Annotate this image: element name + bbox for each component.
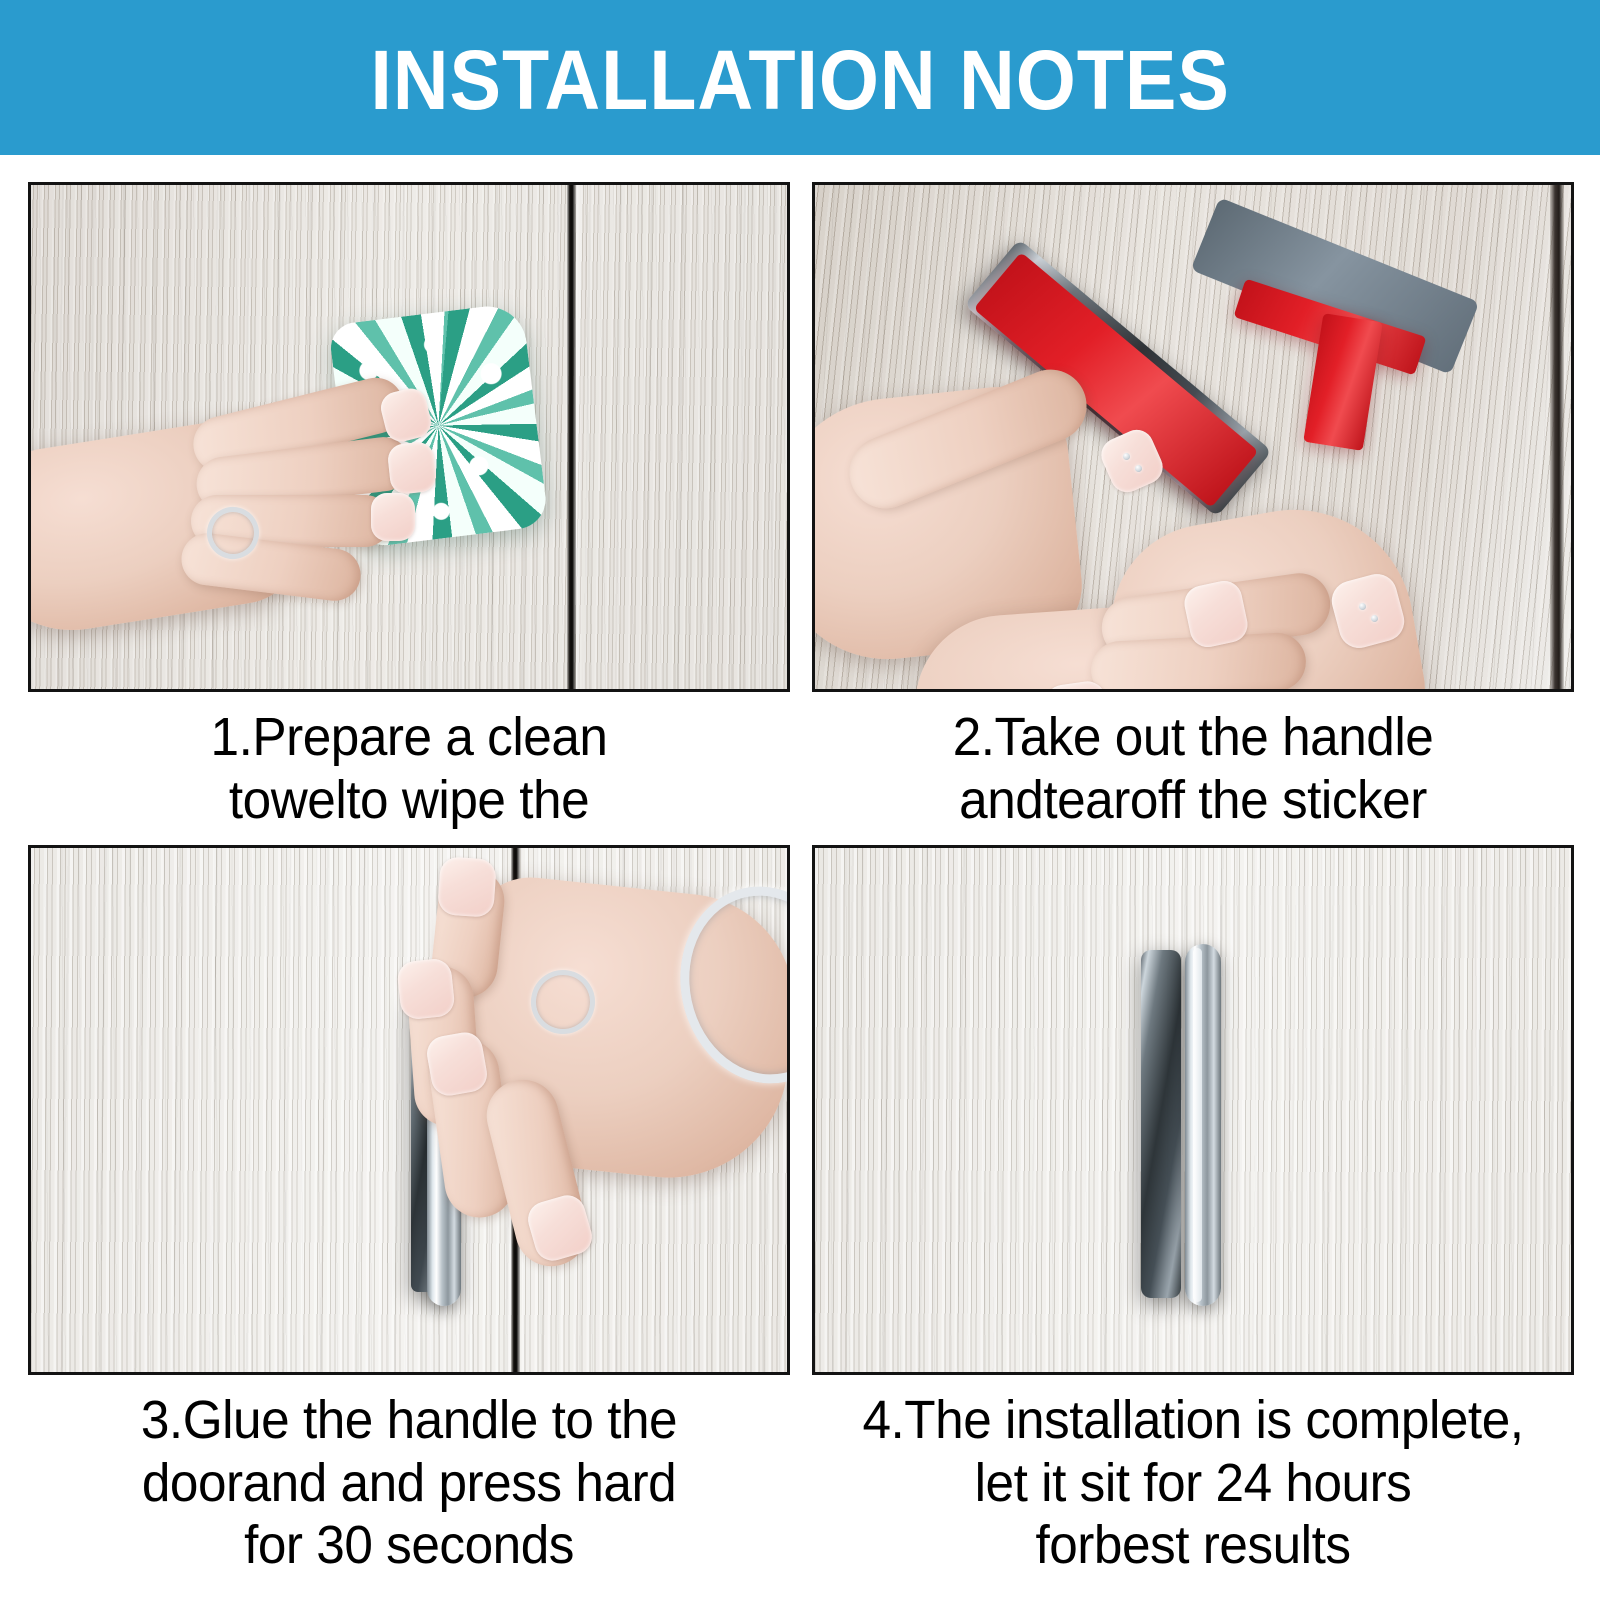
fingernail [371, 493, 415, 541]
step-4: 4.The installation is complete, let it s… [812, 845, 1574, 1577]
step-2-photo [812, 182, 1574, 692]
nail-gem [1359, 603, 1366, 610]
caption-line: 1.Prepare a clean [47, 706, 771, 769]
fingernail [396, 957, 456, 1020]
page-title: INSTALLATION NOTES [370, 38, 1229, 122]
caption-line: let it sit for 24 hours [831, 1452, 1555, 1515]
caption-line: for 30 seconds [47, 1514, 771, 1577]
step-1-photo [28, 182, 790, 692]
nail-gem [1123, 453, 1130, 460]
handle-bar [1185, 944, 1221, 1306]
nail-gem [1371, 615, 1378, 622]
steps-grid: 1.Prepare a clean towelto wipe the [0, 155, 1600, 1600]
fingernail [437, 856, 497, 918]
step-3-photo [28, 845, 790, 1375]
step-2: 2.Take out the handle andtearoff the sti… [812, 182, 1574, 831]
step-2-caption: 2.Take out the handle andtearoff the sti… [812, 706, 1574, 831]
handle-bar-highlight [1193, 948, 1202, 1302]
handle-backing-plate [1141, 950, 1181, 1298]
step-3-caption: 3.Glue the handle to the doorand and pre… [28, 1389, 790, 1577]
step-4-photo [812, 845, 1574, 1375]
caption-line: 4.The installation is complete, [831, 1389, 1555, 1452]
caption-line: 3.Glue the handle to the [47, 1389, 771, 1452]
door-edge-highlight [576, 182, 582, 692]
caption-line: 2.Take out the handle [831, 706, 1555, 769]
step-3: 3.Glue the handle to the doorand and pre… [28, 845, 790, 1577]
nail-gem [1135, 465, 1142, 472]
door-gap-line [567, 182, 576, 692]
door-gap-line [1550, 182, 1564, 692]
fingernail [424, 1030, 490, 1099]
caption-line: forbest results [831, 1514, 1555, 1577]
caption-line: towelto wipe the [47, 769, 771, 832]
caption-line: andtearoff the sticker [831, 769, 1555, 832]
fingernail [387, 441, 438, 496]
header-banner: INSTALLATION NOTES [0, 0, 1600, 155]
step-1-caption: 1.Prepare a clean towelto wipe the [28, 706, 790, 831]
caption-line: doorand and press hard [47, 1452, 771, 1515]
step-1: 1.Prepare a clean towelto wipe the [28, 182, 790, 831]
step-4-caption: 4.The installation is complete, let it s… [812, 1389, 1574, 1577]
